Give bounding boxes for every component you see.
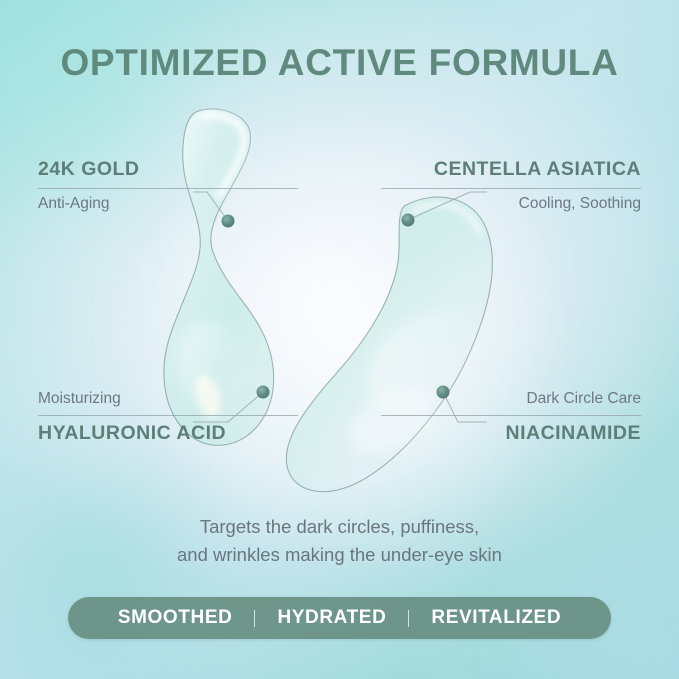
benefits-badge-bar: SMOOTHED HYDRATED REVITALIZED: [68, 597, 611, 639]
callout-centella-subtitle: Cooling, Soothing: [381, 195, 641, 213]
callout-centella-heading: CENTELLA ASIATICA: [381, 158, 641, 181]
callout-hyaluronic-rule: [38, 415, 298, 416]
callout-hyaluronic: Moisturizing HYALURONIC ACID: [38, 390, 298, 445]
callout-gold: 24K GOLD Anti-Aging: [38, 158, 298, 213]
background-bloom-bottom-right: [470, 470, 679, 679]
benefit-hydrated: HYDRATED: [255, 607, 408, 629]
description-text: Targets the dark circles, puffiness, and…: [0, 513, 679, 569]
benefit-revitalized: REVITALIZED: [409, 607, 583, 629]
callout-gold-heading: 24K GOLD: [38, 158, 298, 181]
marker-dot-centella: [402, 214, 415, 227]
callout-hyaluronic-subtitle: Moisturizing: [38, 390, 298, 408]
callout-gold-rule: [38, 188, 298, 189]
callout-niacinamide-rule: [381, 415, 641, 416]
description-line-1: Targets the dark circles, puffiness,: [0, 513, 679, 541]
eye-patch-right: [286, 197, 497, 492]
callout-hyaluronic-heading: HYALURONIC ACID: [38, 422, 298, 445]
callout-centella-rule: [381, 188, 641, 189]
infographic-poster: OPTIMIZED ACTIVE FORMULA 24K GOLD Anti-A…: [0, 0, 679, 679]
callout-gold-subtitle: Anti-Aging: [38, 195, 298, 213]
page-title: OPTIMIZED ACTIVE FORMULA: [0, 42, 679, 84]
benefit-smoothed: SMOOTHED: [96, 607, 255, 629]
callout-niacinamide-subtitle: Dark Circle Care: [381, 390, 641, 408]
callout-niacinamide: Dark Circle Care NIACINAMIDE: [381, 390, 641, 445]
description-line-2: and wrinkles making the under-eye skin: [0, 541, 679, 569]
marker-dot-gold: [222, 215, 235, 228]
marker-dots: [222, 214, 450, 399]
callout-niacinamide-heading: NIACINAMIDE: [381, 422, 641, 445]
connector-lines: [193, 192, 487, 422]
callout-centella: CENTELLA ASIATICA Cooling, Soothing: [381, 158, 641, 213]
product-illustration: [0, 0, 679, 679]
